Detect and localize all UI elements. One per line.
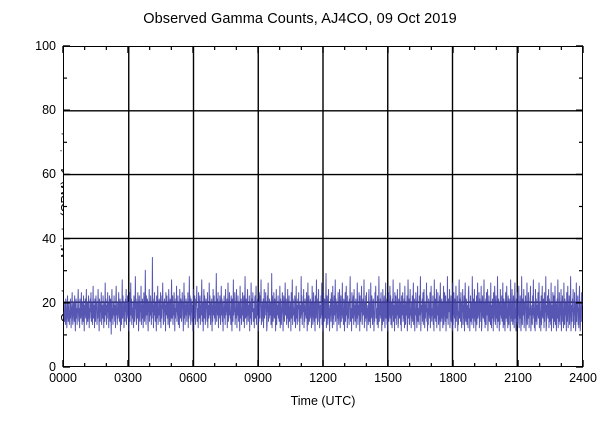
gamma-counts-chart-figure: Observed Gamma Counts, AJ4CO, 09 Oct 201… [0, 0, 600, 428]
plot-area [63, 46, 583, 367]
chart-title: Observed Gamma Counts, AJ4CO, 09 Oct 201… [0, 11, 600, 27]
y-axis-tick-label: 20 [12, 297, 56, 310]
x-axis-tick-label: 1200 [288, 372, 358, 385]
y-axis-tick-label: 80 [12, 104, 56, 117]
x-axis-tick-label: 0000 [28, 372, 98, 385]
x-axis-tick-label: 2400 [548, 372, 600, 385]
x-axis-title: Time (UTC) [63, 394, 583, 408]
gamma-counts-series [64, 47, 582, 366]
x-axis-tick-label: 1500 [353, 372, 423, 385]
y-axis-tick-label: 40 [12, 233, 56, 246]
x-axis-tick-label: 0300 [93, 372, 163, 385]
y-axis-tick-label: 60 [12, 168, 56, 181]
x-axis-tick-labels: 000003000600090012001500180021002400 [63, 372, 583, 390]
y-axis-tick-labels: 020406080100 [8, 46, 56, 367]
x-axis-tick-label: 2100 [483, 372, 553, 385]
x-axis-tick-label: 1800 [418, 372, 488, 385]
y-axis-tick-label: 100 [12, 40, 56, 53]
x-axis-tick-label: 0900 [223, 372, 293, 385]
x-axis-tick-label: 0600 [158, 372, 228, 385]
